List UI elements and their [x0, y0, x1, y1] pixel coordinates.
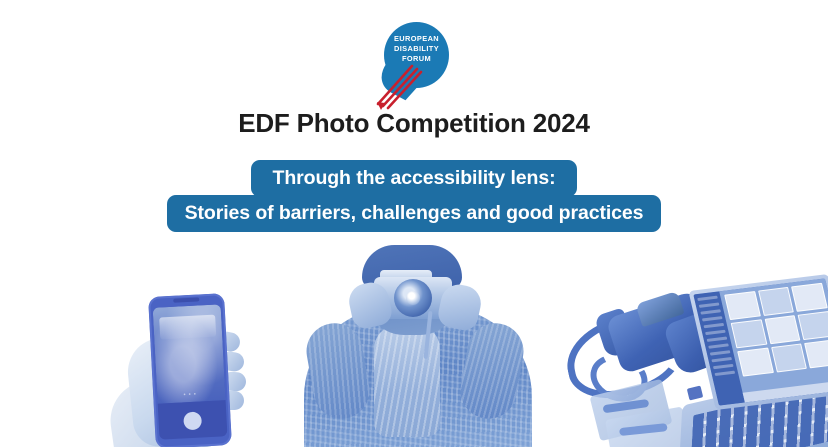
phone-screen: •••: [153, 304, 228, 439]
european-disability-forum-logo[interactable]: EUROPEAN DISABILITY FORUM: [370, 20, 458, 112]
smartphone: •••: [148, 293, 232, 447]
camera-viewfinder: [153, 304, 226, 403]
memory-card-icon: [687, 385, 703, 400]
photo-thumbnail: [764, 315, 800, 344]
logo-red-stripes-icon: [372, 56, 426, 110]
person-scarf: [374, 325, 440, 437]
photo-thumbnail: [724, 291, 760, 320]
photo-thumbnail: [758, 287, 794, 316]
photo-thumbnail: [804, 339, 828, 368]
laptop-screen: [688, 274, 828, 410]
photo-thumbnail: [731, 319, 767, 348]
camera-controls-bar: [158, 400, 228, 440]
logo-container: EUROPEAN DISABILITY FORUM: [0, 20, 828, 112]
photo-thumbnail: [771, 343, 807, 372]
photo-editor-window: [693, 278, 828, 405]
logo-text-line-1: EUROPEAN: [384, 34, 449, 44]
logo-text-line-3: FORUM: [384, 54, 449, 64]
camera-lens-icon: [394, 279, 432, 317]
shutter-button-icon: [183, 411, 202, 430]
subtitle-banner: Through the accessibility lens: Stories …: [0, 160, 828, 232]
photo-thumbnail: [798, 311, 828, 340]
banner-line-2: Stories of barriers, challenges and good…: [167, 195, 662, 233]
photo-thumbnail: [791, 283, 827, 312]
page-title: EDF Photo Competition 2024: [0, 108, 828, 139]
edf-photo-competition-poster: EUROPEAN DISABILITY FORUM EDF Photo Comp…: [0, 0, 828, 447]
photo-strip: •••: [0, 240, 828, 447]
photographer-with-camera-photo: [288, 240, 548, 447]
logo-text: EUROPEAN DISABILITY FORUM: [384, 34, 449, 64]
dslr-camera-and-laptop-photo: [560, 240, 828, 447]
banner-line-1: Through the accessibility lens:: [251, 160, 578, 197]
logo-text-line-2: DISABILITY: [384, 44, 449, 54]
photo-thumbnail: [737, 348, 773, 377]
phone-notch: [173, 297, 199, 302]
